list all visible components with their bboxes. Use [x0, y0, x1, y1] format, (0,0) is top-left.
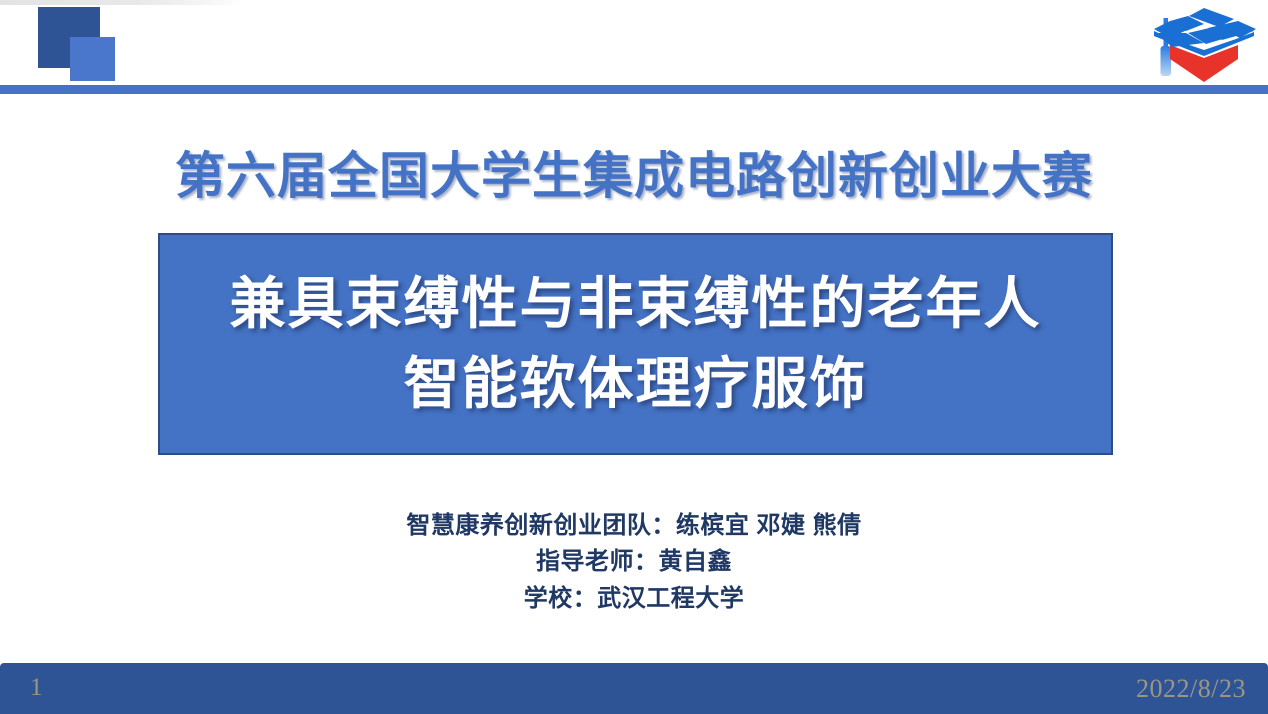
main-title-line-1: 兼具束缚性与非束缚性的老年人 [230, 264, 1042, 344]
presentation-slide: 第六届全国大学生集成电路创新创业大赛 兼具束缚性与非束缚性的老年人 智能软体理疗… [0, 0, 1268, 714]
slide-number: 1 [30, 674, 43, 702]
credit-school-line: 学校：武汉工程大学 [0, 581, 1268, 617]
decorative-square-light [70, 37, 115, 81]
top-gray-strip-decoration [0, 0, 246, 5]
credits-block: 智慧康养创新创业团队：练槟宜 邓婕 熊倩 指导老师：黄自鑫 学校：武汉工程大学 [0, 508, 1268, 617]
graduation-cap-logo [1148, 2, 1260, 84]
credit-advisor-line: 指导老师：黄自鑫 [0, 544, 1268, 580]
credit-team-line: 智慧康养创新创业团队：练槟宜 邓婕 熊倩 [0, 508, 1268, 544]
main-title-box: 兼具束缚性与非束缚性的老年人 智能软体理疗服饰 [158, 233, 1113, 455]
footer-bar [0, 663, 1268, 714]
competition-header-title: 第六届全国大学生集成电路创新创业大赛 [0, 136, 1268, 208]
main-title-line-2: 智能软体理疗服饰 [404, 344, 868, 424]
slide-date: 2022/8/23 [1136, 674, 1246, 704]
header-divider-rule [0, 85, 1268, 94]
